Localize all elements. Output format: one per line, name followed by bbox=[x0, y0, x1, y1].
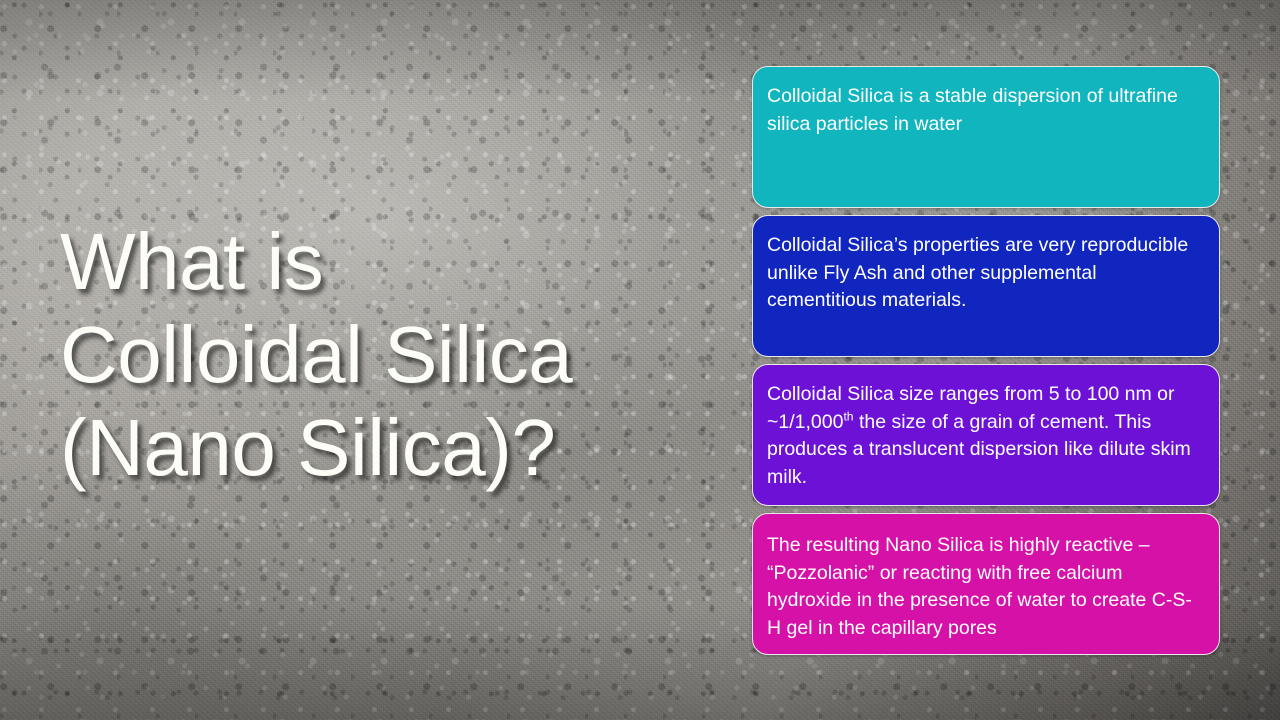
info-card-definition: Colloidal Silica is a stable dispersion … bbox=[752, 66, 1220, 208]
info-card-reproducibility: Colloidal Silica’s properties are very r… bbox=[752, 215, 1220, 357]
slide: What is Colloidal Silica (Nano Silica)? … bbox=[0, 0, 1280, 720]
info-card-list: Colloidal Silica is a stable dispersion … bbox=[752, 66, 1220, 662]
info-card-reproducibility-text: Colloidal Silica’s properties are very r… bbox=[767, 232, 1201, 315]
info-card-reactivity: The resulting Nano Silica is highly reac… bbox=[752, 513, 1220, 655]
info-card-size-text: Colloidal Silica size ranges from 5 to 1… bbox=[767, 381, 1201, 492]
info-card-size: Colloidal Silica size ranges from 5 to 1… bbox=[752, 364, 1220, 506]
info-card-size-ordinal-suffix: th bbox=[843, 409, 853, 423]
info-card-reactivity-text: The resulting Nano Silica is highly reac… bbox=[767, 532, 1201, 643]
info-card-definition-text: Colloidal Silica is a stable dispersion … bbox=[767, 83, 1201, 138]
slide-title: What is Colloidal Silica (Nano Silica)? bbox=[60, 216, 710, 494]
